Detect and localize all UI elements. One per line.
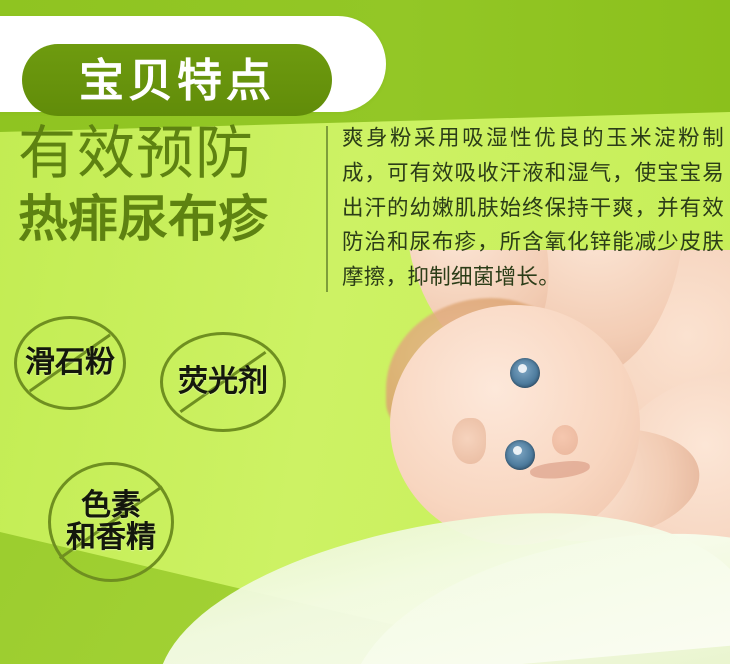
- no-pigment-label-line-1: 色素: [66, 490, 156, 522]
- headline-line-2: 热痱尿布疹: [18, 191, 318, 247]
- headline-line-1: 有效预防: [18, 122, 318, 185]
- header-badge-pill: 宝贝特点: [22, 44, 332, 116]
- no-talc-label: 滑石粉: [25, 347, 115, 379]
- header-banner: 宝贝特点: [0, 16, 386, 112]
- baby-nose: [552, 425, 578, 455]
- baby-ear: [452, 418, 486, 464]
- header-badge-label: 宝贝特点: [79, 58, 275, 103]
- no-pigment-label-line-2: 和香精: [66, 522, 156, 554]
- baby-head: [390, 305, 640, 545]
- headline-block: 有效预防 热痱尿布疹: [18, 122, 318, 247]
- baby-eye-upper: [510, 358, 540, 388]
- vertical-divider: [326, 126, 328, 292]
- body-paragraph: 爽身粉采用吸湿性优良的玉米淀粉制成，可有效吸收汗液和湿气，使宝宝易出汗的幼嫩肌肤…: [342, 122, 724, 296]
- promo-poster: 宝贝特点 有效预防 热痱尿布疹 爽身粉采用吸湿性优良的玉米淀粉制成，可有效吸收汗…: [0, 0, 730, 664]
- no-pigment-badge: 色素 和香精: [48, 462, 174, 582]
- no-talc-badge: 滑石粉: [14, 316, 126, 410]
- baby-eye-lower: [505, 440, 535, 470]
- no-pigment-label: 色素 和香精: [66, 490, 156, 554]
- no-fluorescent-badge: 荧光剂: [160, 332, 286, 432]
- no-fluorescent-label: 荧光剂: [178, 366, 268, 398]
